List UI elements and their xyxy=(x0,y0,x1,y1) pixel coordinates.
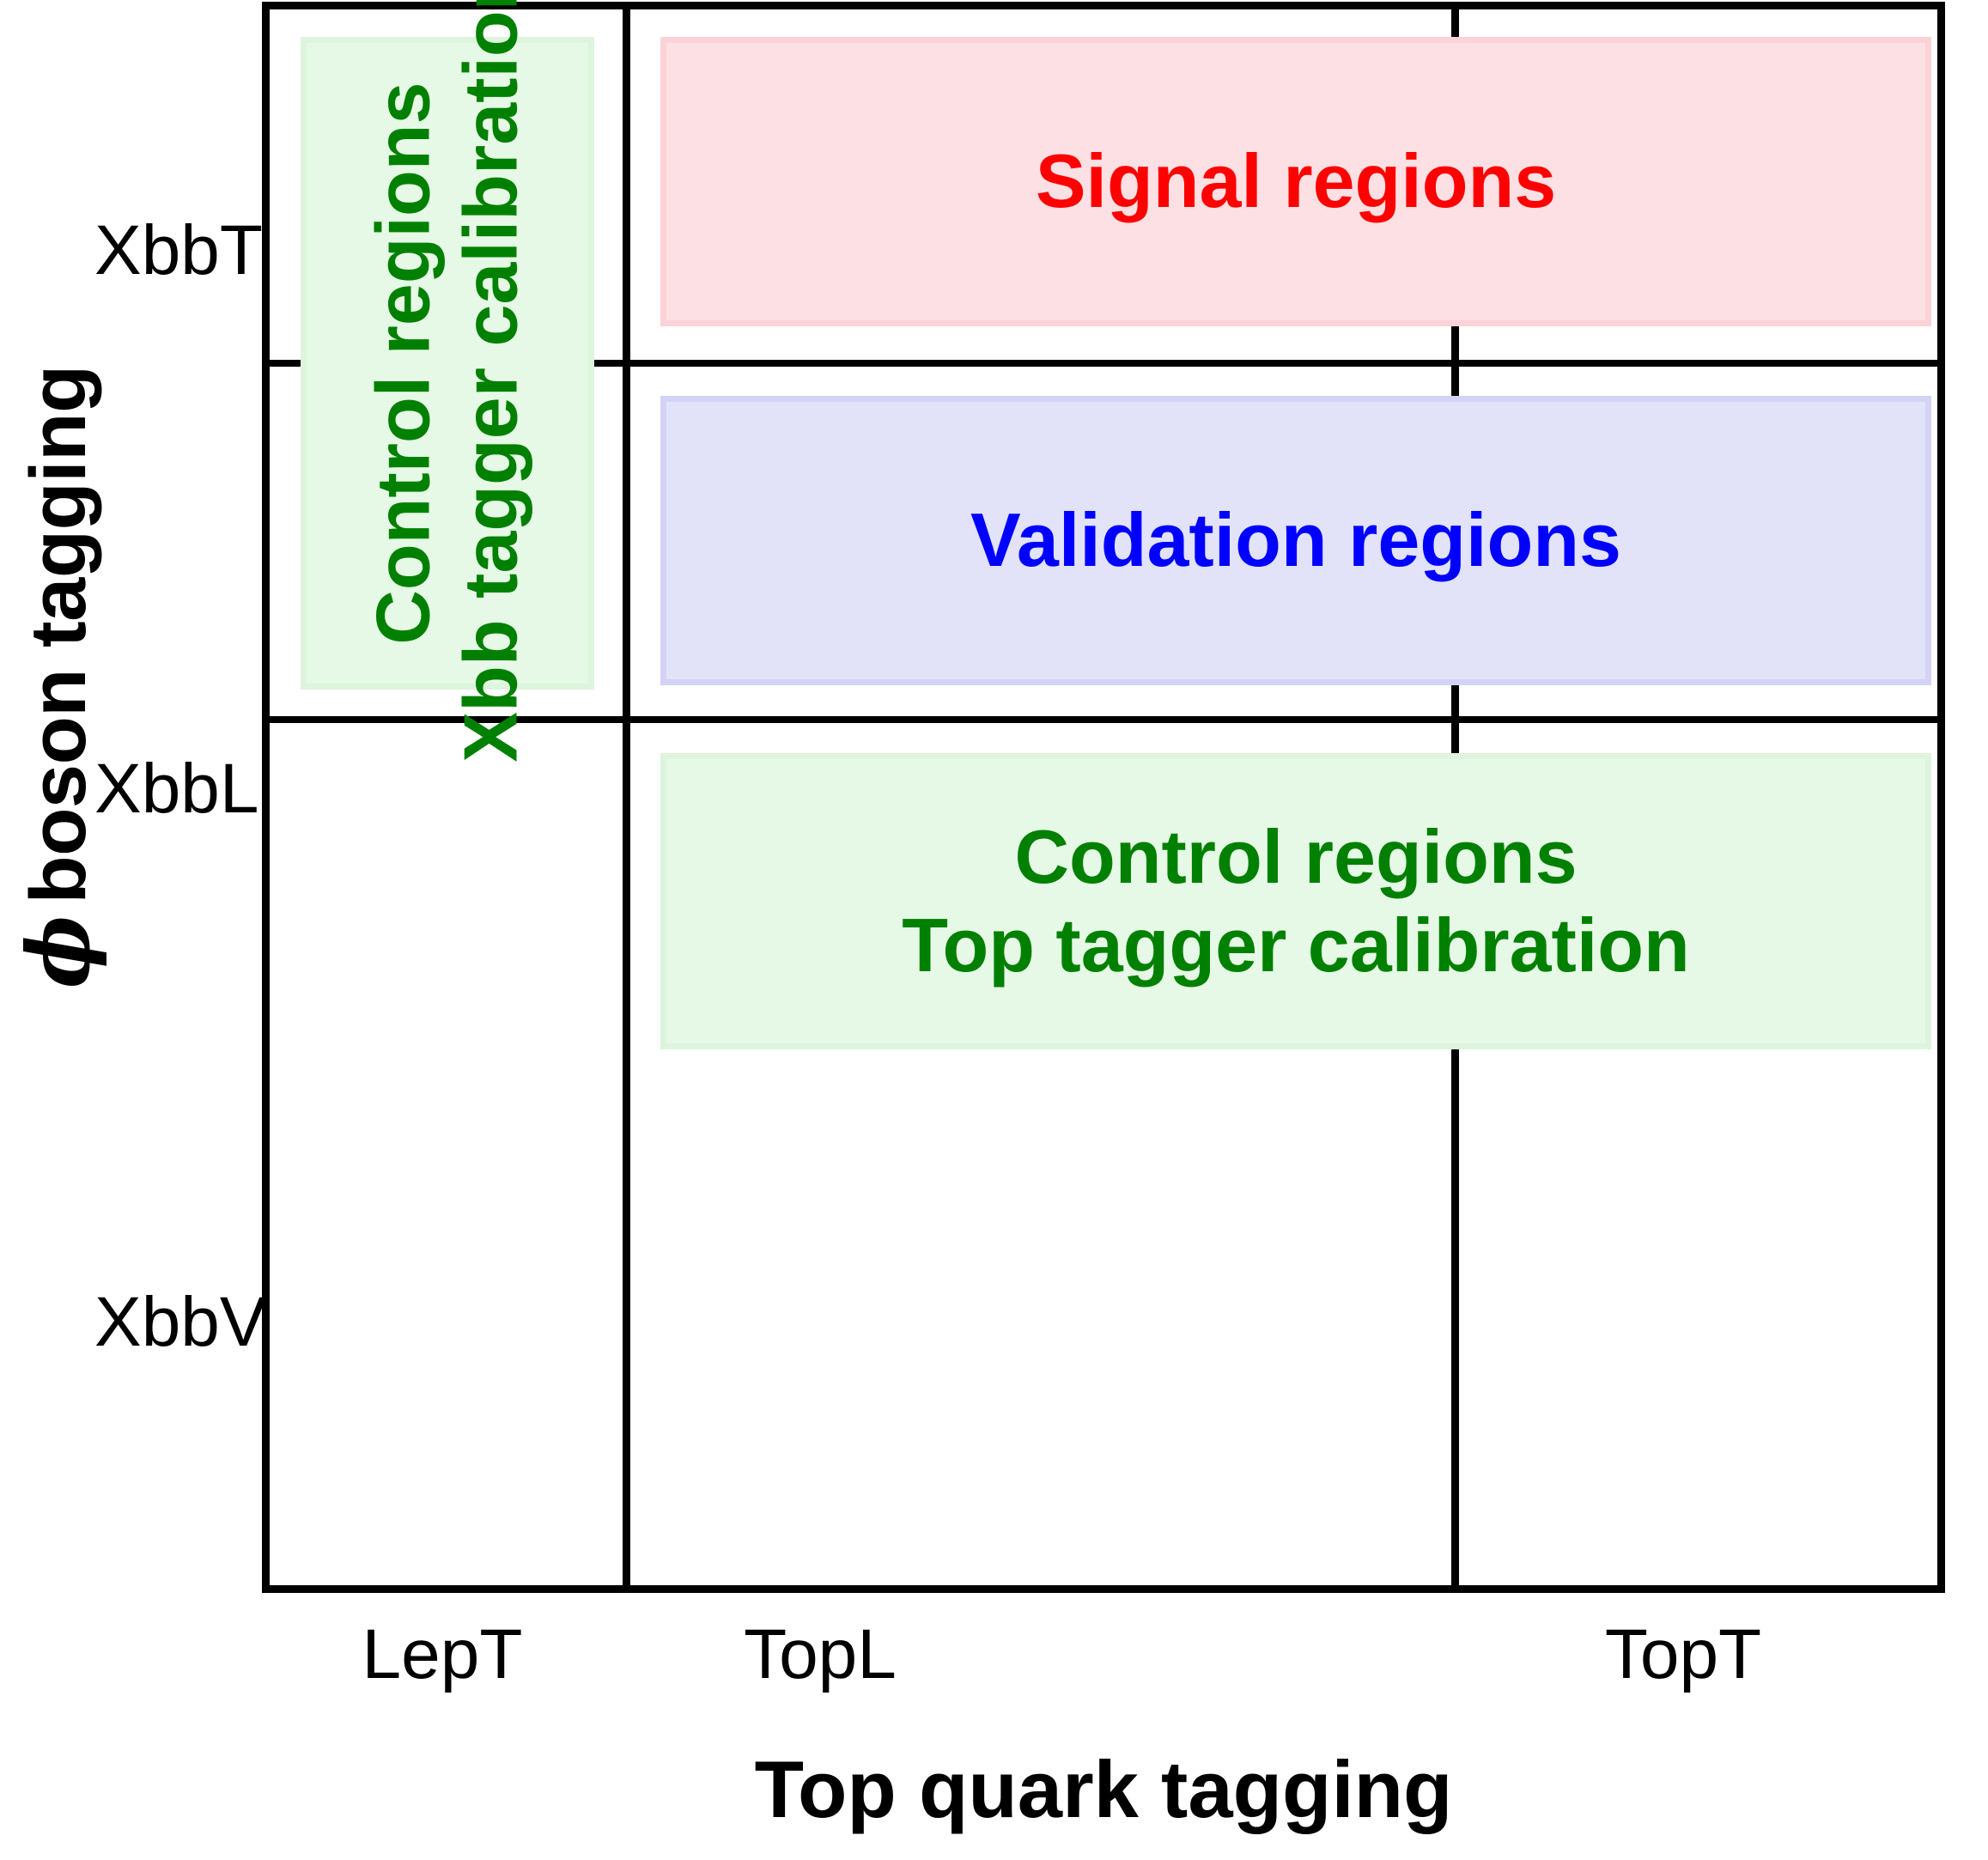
region-control-top-line2: Top tagger calibration xyxy=(902,902,1690,989)
region-control-top-line1: Control regions xyxy=(1014,813,1577,901)
region-control-xbb[interactable]: Control regions Xbb tagger calibration xyxy=(301,37,594,690)
region-control-top[interactable]: Control regions Top tagger calibration xyxy=(660,753,1931,1049)
x-axis-title: Top quark tagging xyxy=(262,1743,1945,1836)
region-control-xbb-line2: Xbb tagger calibration xyxy=(447,0,535,763)
y-tick-label-xbbv: XbbV xyxy=(94,1282,236,1363)
plot-area: Control regions Xbb tagger calibration S… xyxy=(262,2,1945,1593)
x-tick-label-lept: LepT xyxy=(326,1614,558,1695)
region-control-xbb-textwrap: Control regions Xbb tagger calibration xyxy=(360,0,535,763)
y-tick-label-xbbl: XbbL xyxy=(94,749,236,830)
y-axis-title-text: boson tagging xyxy=(14,365,104,903)
y-tick-label-xbbt: XbbT xyxy=(94,210,236,291)
region-validation-label: Validation regions xyxy=(970,496,1621,584)
y-axis-title: ϕ boson tagging xyxy=(7,316,110,1037)
x-tick-label-topl: TopL xyxy=(704,1614,936,1695)
region-signal[interactable]: Signal regions xyxy=(660,37,1931,326)
x-tick-label-topt: TopT xyxy=(1567,1614,1799,1695)
phi-symbol: ϕ xyxy=(8,903,109,988)
region-signal-label: Signal regions xyxy=(1036,137,1556,225)
grid-vline-lept-top xyxy=(623,9,630,1585)
region-control-xbb-line1: Control regions xyxy=(360,82,447,644)
region-validation[interactable]: Validation regions xyxy=(660,396,1931,685)
figure-canvas: ϕ boson tagging XbbT XbbL XbbV LepT TopL… xyxy=(0,0,1988,1860)
